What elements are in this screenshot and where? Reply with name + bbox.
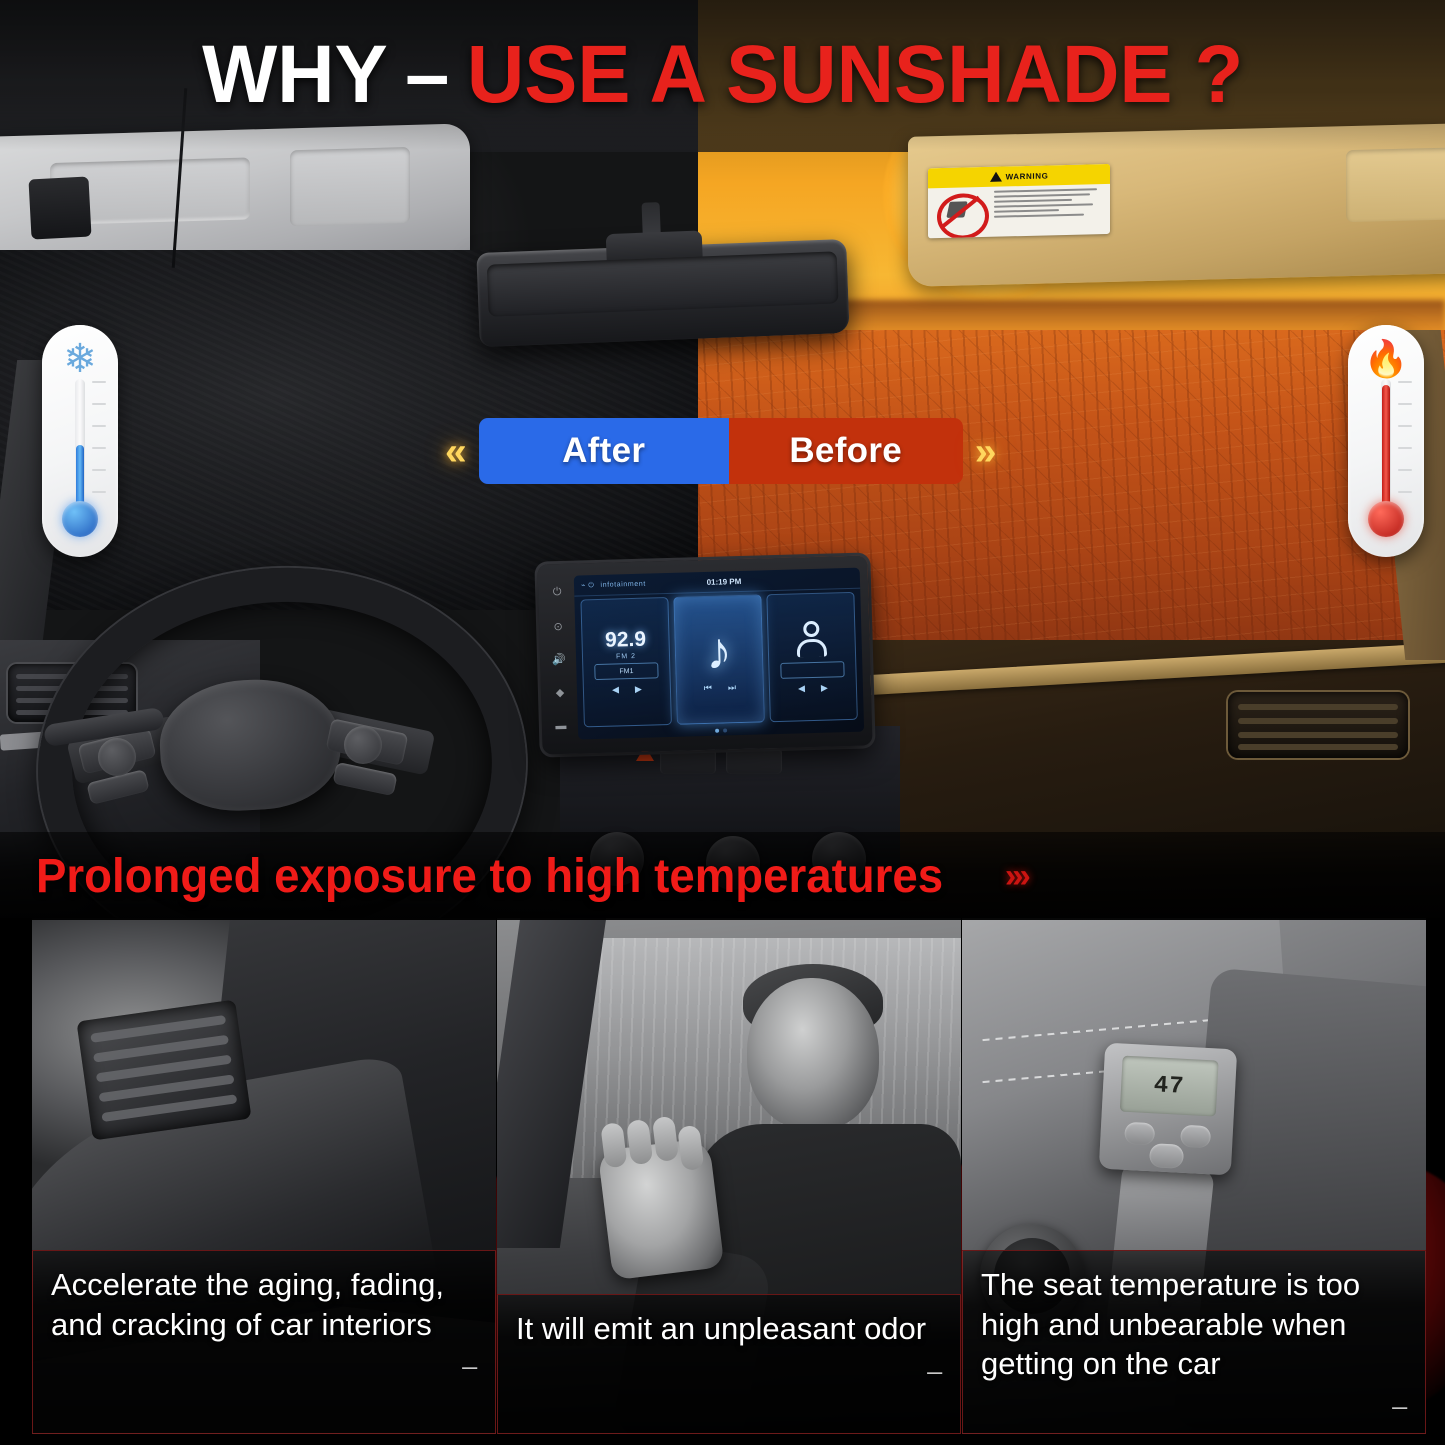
thermometer-mercury-hot — [1382, 385, 1390, 517]
title-why: WHY — [202, 29, 388, 120]
radio-band: FM 2 — [616, 653, 636, 661]
airbag-warning-label: WARNING — [928, 164, 1110, 238]
user-profile-icon — [794, 620, 829, 659]
consequence-panel-3: 47 The seat temperature is too high and … — [962, 918, 1426, 1434]
hero-comparison-section: WARNING — [0, 0, 1445, 918]
chevron-left-icon: « — [445, 432, 467, 471]
cold-thermometer: ❄ — [42, 325, 118, 557]
headline-text: Prolonged exposure to high temperatures — [36, 849, 943, 904]
air-vent-right — [1228, 692, 1408, 758]
console-button-1[interactable] — [660, 748, 716, 774]
snowflake-icon: ❄ — [42, 333, 118, 385]
warning-label-heading: WARNING — [1006, 171, 1049, 181]
panel-3-caption-tail: _ — [981, 1390, 1407, 1400]
before-after-badge-group: « After Before » — [445, 418, 996, 484]
radio-next-icon[interactable]: ▶ — [635, 684, 642, 695]
consequence-panel-1: Accelerate the aging, fading, and cracki… — [32, 918, 496, 1434]
profile-prev-icon[interactable]: ◀ — [798, 683, 805, 694]
warning-label-body — [928, 184, 1110, 238]
thermometer-bulb-cold — [62, 501, 98, 537]
infotainment-tiles: 92.9 FM 2 FM1 ◀ ▶ ♪ ⏮ ⏭ — [580, 592, 857, 728]
panel-2-caption: It will emit an unpleasant odor — [516, 1309, 942, 1349]
infotainment-brand: infotainment — [600, 580, 646, 588]
media-prev-icon[interactable]: ⏮ — [704, 683, 712, 694]
console-button-2[interactable] — [726, 748, 782, 774]
headline-strip: Prolonged exposure to high temperatures … — [0, 832, 1445, 920]
media-controls[interactable]: ⏮ ⏭ — [704, 682, 737, 694]
head-unit-mount — [28, 176, 91, 239]
headline-chevrons-icon: ››› — [1005, 857, 1027, 896]
panel-2-caption-box: It will emit an unpleasant odor _ — [497, 1294, 961, 1434]
media-tile[interactable]: ♪ ⏮ ⏭ — [673, 594, 765, 724]
thermometer-ticks-cold — [86, 381, 106, 515]
panel-1-caption: Accelerate the aging, fading, and cracki… — [51, 1265, 477, 1344]
infotainment-screen[interactable]: ⌁ ⏻ infotainment 01:19 PM 92.9 FM 2 FM1 … — [574, 568, 864, 740]
panel-1-caption-tail: _ — [51, 1350, 477, 1360]
page-title-text: WHY–USE A SUNSHADE ? — [202, 34, 1243, 116]
menu-icon[interactable]: ▬ — [555, 720, 566, 732]
consequence-panels: Accelerate the aging, fading, and cracki… — [0, 918, 1445, 1445]
panel-3-caption: The seat temperature is too high and unb… — [981, 1265, 1407, 1384]
radio-frequency: 92.9 — [605, 629, 646, 651]
hot-thermometer: 🔥 — [1348, 325, 1424, 557]
page-indicator-dots — [715, 728, 727, 732]
title-question: USE A SUNSHADE ? — [467, 29, 1243, 120]
infographic-canvas: WARNING — [0, 0, 1445, 1445]
before-badge[interactable]: Before — [729, 418, 963, 484]
volume-icon[interactable]: 🔊 — [552, 653, 566, 666]
bluetooth-icon: ⌁ ⏻ — [581, 581, 595, 590]
profile-controls[interactable]: ◀ ▶ — [798, 682, 828, 694]
infotainment-clock: 01:19 PM — [706, 576, 741, 586]
visor-mirror-right — [1346, 146, 1445, 222]
media-next-icon[interactable]: ⏭ — [728, 682, 736, 693]
infotainment-head-unit[interactable]: ⏻ ⊙ 🔊 ◆ ▬ ⌁ ⏻ infotainment 01:19 PM 92.9… — [537, 555, 872, 754]
panel-2-caption-tail: _ — [516, 1355, 942, 1365]
panel-3-caption-box: The seat temperature is too high and unb… — [962, 1250, 1426, 1434]
wheel-dial-left — [98, 738, 136, 776]
profile-tile[interactable]: ◀ ▶ — [766, 592, 858, 722]
title-dash: – — [388, 29, 467, 120]
consequence-panel-2: It will emit an unpleasant odor _ — [497, 918, 961, 1434]
radio-prev-icon[interactable]: ◀ — [612, 684, 619, 695]
home-icon[interactable]: ⊙ — [553, 620, 563, 633]
profile-select-button[interactable] — [780, 661, 844, 679]
power-icon[interactable]: ⏻ — [553, 586, 562, 599]
after-badge[interactable]: After — [479, 418, 729, 484]
warning-label-text-lines — [994, 184, 1110, 237]
mirror-glass — [487, 251, 839, 316]
no-child-seat-icon — [928, 187, 994, 239]
music-note-icon: ♪ — [705, 625, 732, 678]
thermometer-ticks-hot — [1392, 381, 1412, 515]
flame-icon: 🔥 — [1348, 333, 1424, 385]
back-icon[interactable]: ◆ — [556, 686, 565, 699]
thermometer-bulb-hot — [1368, 501, 1404, 537]
chevron-right-icon: » — [975, 432, 997, 471]
infrared-thermometer-gun: 47 — [1099, 1043, 1237, 1176]
thermometer-reading: 47 — [1153, 1072, 1185, 1101]
head-unit-side-buttons[interactable]: ⏻ ⊙ 🔊 ◆ ▬ — [542, 576, 577, 743]
profile-next-icon[interactable]: ▶ — [821, 682, 828, 693]
radio-tile[interactable]: 92.9 FM 2 FM1 ◀ ▶ — [580, 597, 672, 727]
visor-mirror-left — [290, 147, 410, 226]
panel-1-caption-box: Accelerate the aging, fading, and cracki… — [32, 1250, 496, 1434]
wheel-dial-right — [344, 726, 382, 764]
radio-preset-button[interactable]: FM1 — [594, 662, 658, 680]
rearview-mirror — [476, 239, 849, 347]
page-title: WHY–USE A SUNSHADE ? — [0, 0, 1445, 150]
thermometer-lcd: 47 — [1120, 1056, 1219, 1117]
radio-controls[interactable]: ◀ ▶ — [612, 684, 642, 696]
warning-triangle-icon — [990, 172, 1002, 182]
